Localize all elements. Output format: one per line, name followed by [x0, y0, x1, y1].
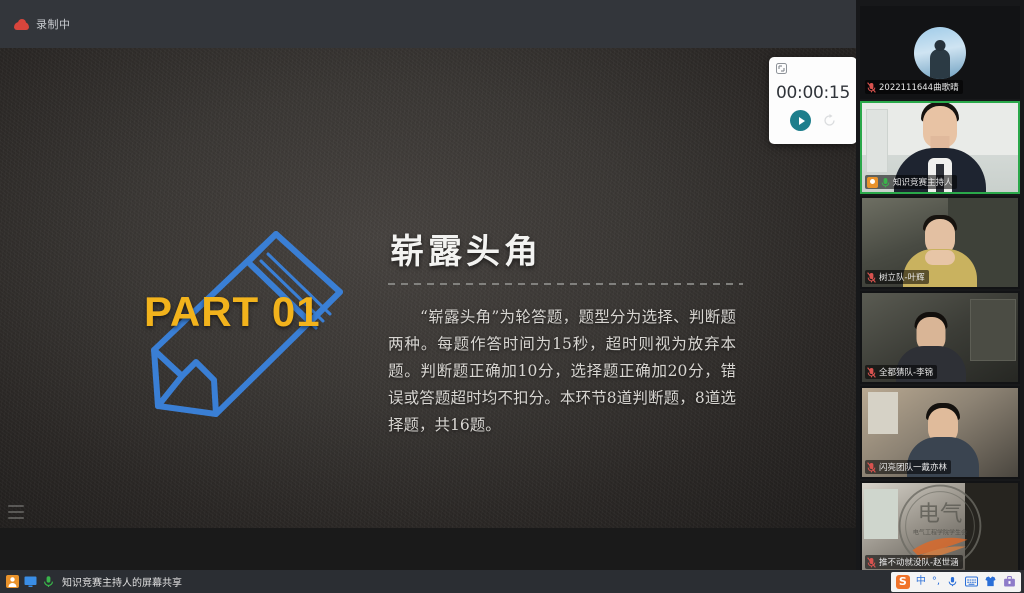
screen-share-label: 知识竞赛主持人的屏幕共享 — [62, 574, 182, 589]
keyboard-icon[interactable] — [965, 576, 978, 587]
participant-name: 推不动就没队-赵世涵 — [879, 556, 959, 568]
video-tile[interactable]: 全都猜队-李锦 — [860, 291, 1020, 384]
participant-name: 树立队-叶辉 — [879, 271, 925, 283]
play-icon[interactable] — [790, 110, 811, 131]
toolbox-icon[interactable] — [1003, 576, 1016, 587]
participant-label: 全都猜队-李锦 — [865, 365, 937, 379]
participant-label: 知识竞赛主持人 — [865, 175, 957, 189]
microphone-active-icon — [881, 177, 890, 188]
microphone-muted-icon — [867, 272, 876, 283]
slide-menu-icon[interactable] — [8, 505, 24, 519]
recording-label: 录制中 — [36, 16, 71, 32]
participant-video-strip[interactable]: 2022111644曲歌晴 知识竞赛主持人 — [856, 0, 1024, 570]
part-label: PART 01 — [144, 288, 321, 336]
recording-cloud-icon — [14, 19, 29, 30]
video-tile[interactable]: 知识竞赛主持人 — [860, 101, 1020, 194]
screen-icon[interactable] — [24, 575, 37, 588]
participant-label: 2022111644曲歌晴 — [865, 80, 963, 94]
microphone-icon[interactable] — [42, 575, 55, 588]
participant-name: 全都猜队-李锦 — [879, 366, 933, 378]
participant-name: 闪亮团队一戴亦林 — [879, 461, 947, 473]
timer-value: 00:00:15 — [769, 83, 857, 103]
video-tile[interactable]: 2022111644曲歌晴 — [860, 6, 1020, 99]
microphone-muted-icon — [867, 82, 876, 93]
svg-text:电气: 电气 — [918, 501, 963, 527]
slide-title: 崭露头角 — [390, 224, 542, 273]
reset-icon[interactable] — [823, 114, 836, 127]
ime-language-mode[interactable]: 中 — [916, 577, 926, 587]
avatar — [914, 27, 966, 79]
microphone-muted-icon — [867, 557, 876, 568]
presentation-slide: PART 01 崭露头角 “崭露头角”为轮答题，题型分为选择、判断题两种。每题作… — [0, 48, 856, 528]
microphone-muted-icon — [867, 367, 876, 378]
slide-divider — [388, 283, 743, 285]
skin-icon[interactable] — [984, 576, 997, 587]
meeting-window: 录制中 PART 01 崭露头角 — [0, 0, 1024, 593]
expand-icon[interactable] — [776, 63, 787, 74]
taskbar-left-group: 知识竞赛主持人的屏幕共享 — [0, 574, 182, 589]
recording-bar: 录制中 — [0, 0, 856, 48]
taskbar: 知识竞赛主持人的屏幕共享 S 中 °, — [0, 570, 1024, 593]
timer-controls — [769, 110, 857, 131]
participants-icon[interactable] — [6, 575, 19, 588]
countdown-timer-widget[interactable]: 00:00:15 — [769, 57, 857, 144]
shared-screen-area[interactable]: PART 01 崭露头角 “崭露头角”为轮答题，题型分为选择、判断题两种。每题作… — [0, 48, 856, 570]
participant-label: 推不动就没队-赵世涵 — [865, 555, 963, 569]
participant-name: 2022111644曲歌晴 — [879, 81, 959, 93]
participant-label: 闪亮团队一戴亦林 — [865, 460, 951, 474]
host-badge — [867, 177, 878, 188]
microphone-icon[interactable] — [946, 576, 959, 587]
participant-name: 知识竞赛主持人 — [893, 176, 953, 188]
svg-text:电气工程学院学生会: 电气工程学院学生会 — [913, 528, 967, 536]
ime-punctuation-mode[interactable]: °, — [932, 577, 940, 587]
participant-label: 树立队-叶辉 — [865, 270, 929, 284]
slide-body-text: “崭露头角”为轮答题，题型分为选择、判断题两种。每题作答时间为15秒，超时则视为… — [388, 304, 736, 439]
video-tile[interactable]: 电气 电气工程学院学生会 推不动就没队-赵世涵 — [860, 481, 1020, 574]
video-tile[interactable]: 闪亮团队一戴亦林 — [860, 386, 1020, 479]
video-tile[interactable]: 树立队-叶辉 — [860, 196, 1020, 289]
sogou-logo-icon[interactable]: S — [896, 575, 910, 589]
part-graphic: PART 01 — [128, 216, 358, 426]
microphone-muted-icon — [867, 462, 876, 473]
ime-toolbar[interactable]: S 中 °, — [891, 572, 1021, 592]
